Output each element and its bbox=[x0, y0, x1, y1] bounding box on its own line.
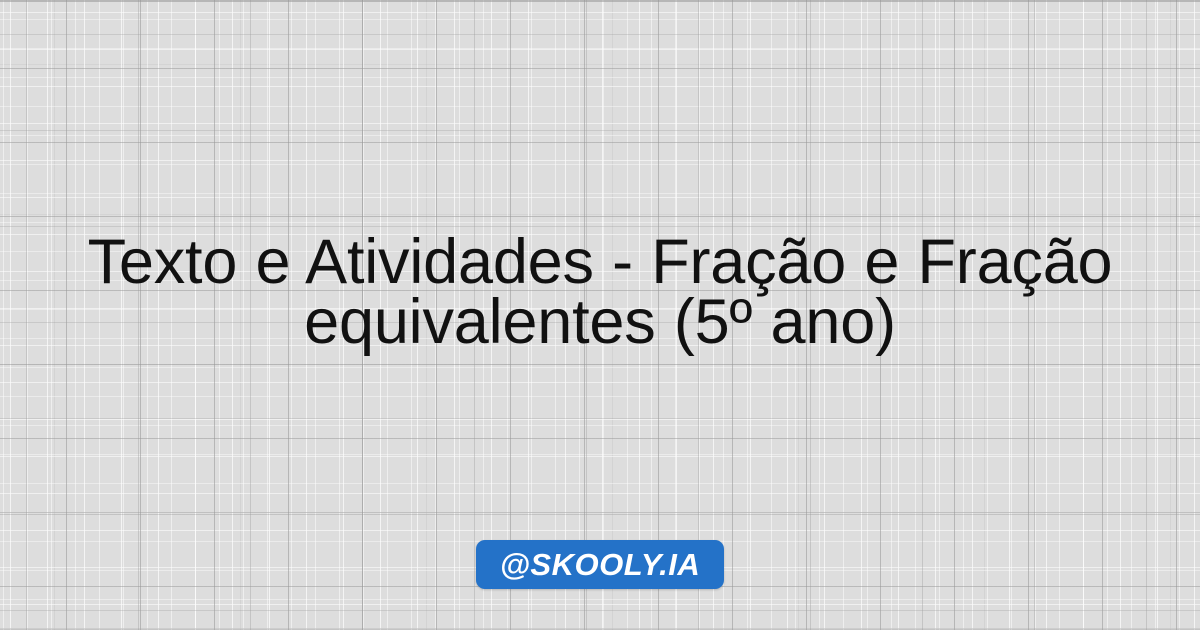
brand-badge[interactable]: @SKOOLY.IA bbox=[476, 540, 725, 589]
top-edge-rule bbox=[0, 0, 1200, 2]
title-block: Texto e Atividades - Fração e Fração equ… bbox=[0, 232, 1200, 352]
brand-badge-label: @SKOOLY.IA bbox=[500, 549, 701, 580]
share-card: Texto e Atividades - Fração e Fração equ… bbox=[0, 0, 1200, 630]
brand-badge-container: @SKOOLY.IA bbox=[0, 540, 1200, 589]
page-title: Texto e Atividades - Fração e Fração equ… bbox=[40, 232, 1160, 352]
